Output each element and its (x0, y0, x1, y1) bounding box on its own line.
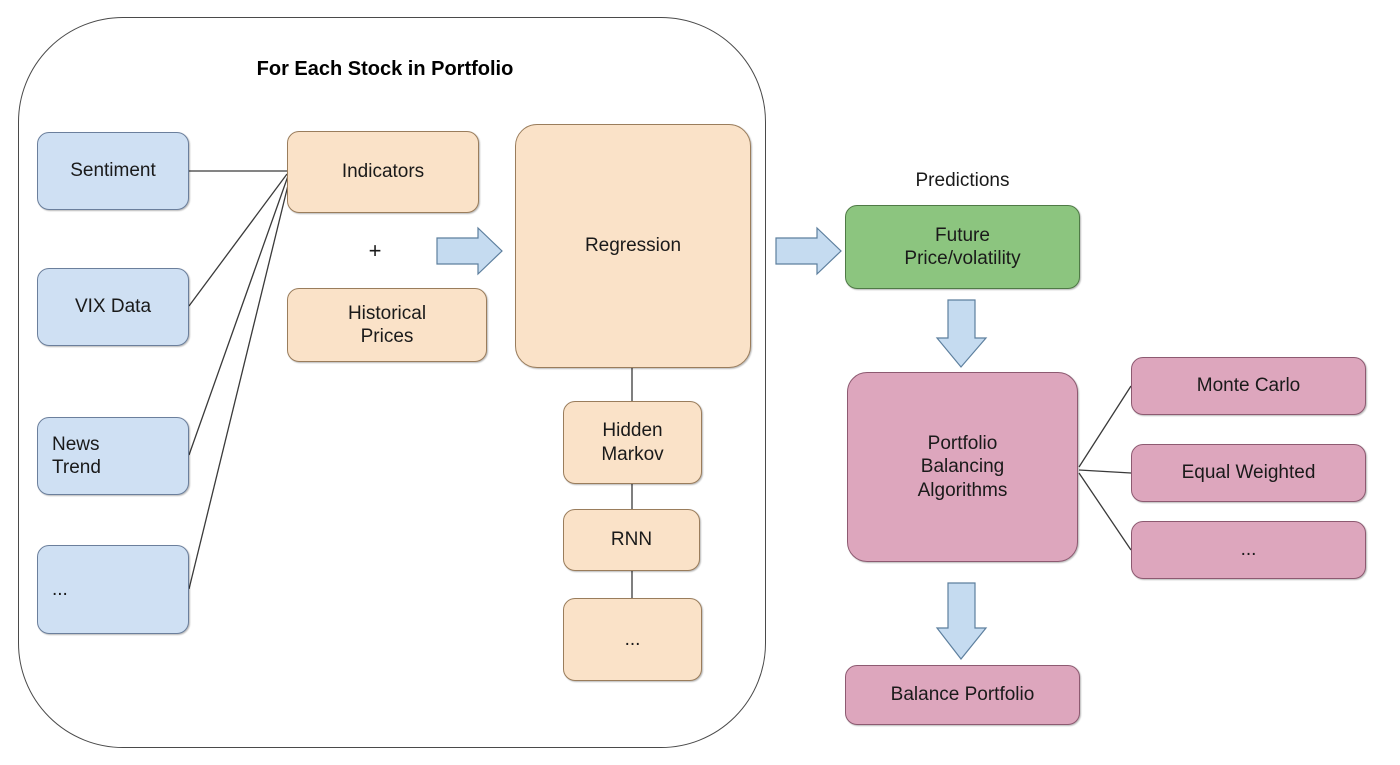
diagram-canvas: For Each Stock in Portfolio Sentiment VI… (0, 0, 1400, 765)
arrow-balancing-to-output-icon (937, 583, 986, 659)
arrow-features-to-regression-icon (437, 228, 502, 274)
arrow-predictions-to-balancing-icon (937, 300, 986, 367)
flow-arrows-layer (0, 0, 1400, 765)
arrow-regression-to-predictions-icon (776, 228, 841, 274)
